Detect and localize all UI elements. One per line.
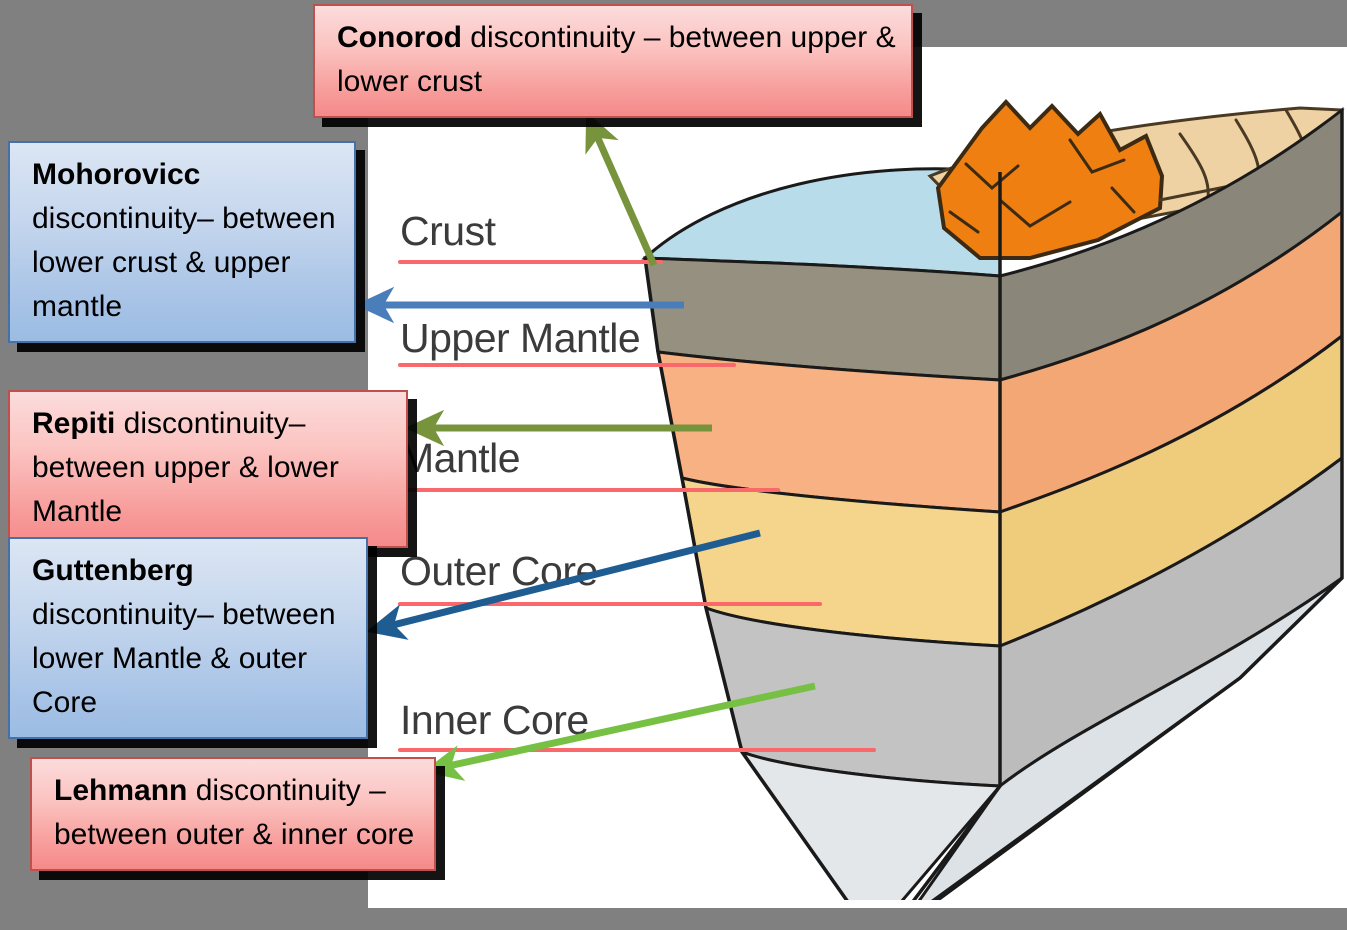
- callout-lehmann-term: Lehmann: [54, 774, 187, 807]
- outer-core-leader-rule: [398, 602, 822, 606]
- mantle-leader-rule: [398, 488, 780, 492]
- callout-mohorovicc-desc: discontinuity– between lower crust & upp…: [32, 202, 336, 323]
- layer-label-upper-mantle: Upper Mantle: [400, 318, 640, 359]
- callout-mohorovicc-term: Mohorovicc: [32, 158, 200, 191]
- slide-canvas: Crust Upper Mantle Mantle Outer Core Inn…: [0, 0, 1347, 930]
- callout-guttenberg[interactable]: Guttenberg discontinuity– between lower …: [8, 537, 368, 739]
- layer-label-inner-core: Inner Core: [400, 700, 589, 741]
- callout-guttenberg-term: Guttenberg: [32, 554, 194, 587]
- callout-guttenberg-desc: discontinuity– between lower Mantle & ou…: [32, 598, 336, 719]
- layer-label-mantle: Mantle: [400, 438, 520, 479]
- callout-mohorovicc[interactable]: Mohorovicc discontinuity– between lower …: [8, 141, 356, 343]
- callout-conorod[interactable]: Conorod discontinuity – between upper & …: [313, 4, 913, 118]
- layer-label-outer-core: Outer Core: [400, 551, 598, 592]
- inner-core-leader-rule: [398, 748, 876, 752]
- crust-leader-rule: [398, 260, 663, 264]
- layer-label-crust: Crust: [400, 211, 495, 252]
- upper-mantle-leader-rule: [398, 363, 736, 367]
- callout-repiti-term: Repiti: [32, 407, 115, 440]
- callout-conorod-term: Conorod: [337, 21, 462, 54]
- callout-repiti[interactable]: Repiti discontinuity– between upper & lo…: [8, 390, 408, 548]
- callout-lehmann[interactable]: Lehmann discontinuity – between outer & …: [30, 757, 436, 871]
